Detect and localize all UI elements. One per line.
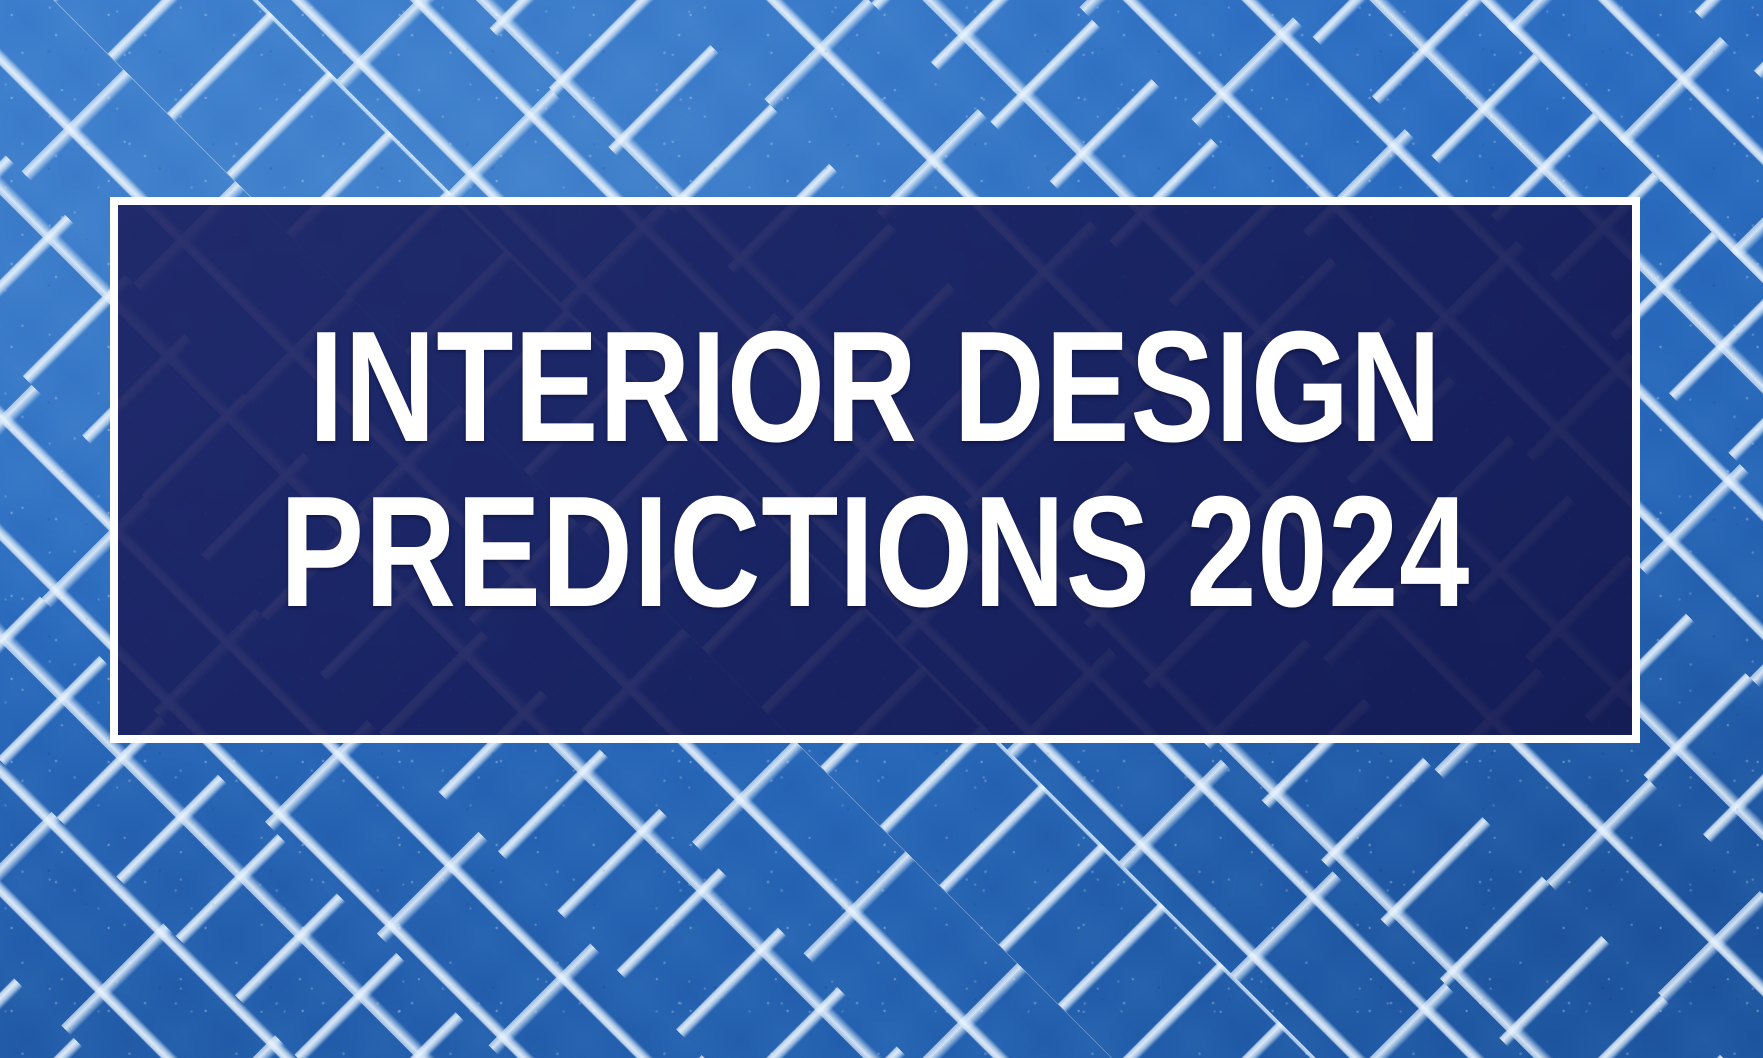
poster-canvas: INTERIOR DESIGN PREDICTIONS 2024 — [0, 0, 1763, 1058]
title-panel-overlay — [118, 205, 1632, 735]
title-panel-frame: INTERIOR DESIGN PREDICTIONS 2024 — [110, 197, 1640, 743]
